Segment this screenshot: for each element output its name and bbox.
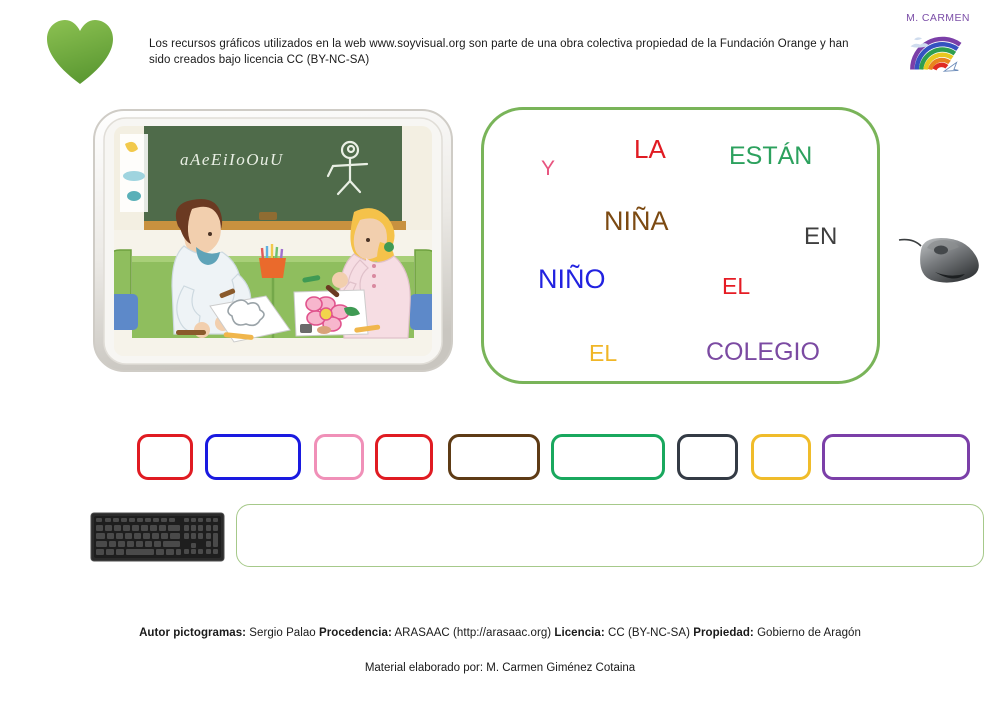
footer-author-line: Material elaborado por: M. Carmen Giméne…	[0, 662, 1000, 674]
word-chip-el-7[interactable]: EL	[589, 342, 617, 365]
svg-text:aAeEiIoOuU: aAeEiIoOuU	[180, 150, 284, 169]
answer-box-4[interactable]	[375, 434, 433, 480]
word-chip-colegio-8[interactable]: COLEGIO	[706, 340, 820, 365]
word-chip-nio-5[interactable]: NIÑO	[538, 266, 606, 293]
answer-box-2[interactable]	[205, 434, 301, 480]
answer-box-5[interactable]	[448, 434, 540, 480]
answer-box-3[interactable]	[314, 434, 364, 480]
computer-mouse-image	[897, 228, 987, 298]
answer-boxes-row	[0, 434, 1000, 486]
word-chip-y-0[interactable]: Y	[541, 158, 555, 179]
word-chip-el-6[interactable]: EL	[722, 275, 750, 298]
answer-box-7[interactable]	[677, 434, 738, 480]
green-heart-icon	[45, 18, 115, 86]
author-name: M. CARMEN	[884, 12, 992, 24]
footer-credits: Autor pictogramas: Sergio Palao Proceden…	[0, 627, 1000, 639]
classroom-children-drawing-photo: aAeEiIoOuU	[92, 108, 454, 373]
answer-box-9[interactable]	[822, 434, 970, 480]
footer-value-autor: Sergio Palao	[249, 627, 315, 639]
word-chip-en-4[interactable]: EN	[804, 225, 837, 249]
answer-box-8[interactable]	[751, 434, 811, 480]
author-badge: M. CARMEN	[884, 12, 992, 77]
keyboard-image	[90, 509, 225, 567]
footer-label-licencia: Licencia:	[554, 627, 604, 639]
footer-label-procedencia: Procedencia:	[319, 627, 392, 639]
footer-value-procedencia: ARASAAC (http://arasaac.org)	[394, 627, 551, 639]
sentence-answer-input[interactable]	[236, 504, 984, 567]
answer-box-1[interactable]	[137, 434, 193, 480]
answer-box-6[interactable]	[551, 434, 665, 480]
footer-value-propiedad: Gobierno de Aragón	[757, 627, 861, 639]
footer-value-licencia: CC (BY-NC-SA)	[608, 627, 690, 639]
word-bank-panel: YLAESTÁNNIÑAENNIÑOELELCOLEGIO	[481, 107, 880, 384]
footer-label-autor: Autor pictogramas:	[139, 627, 246, 639]
word-chip-la-1[interactable]: LA	[634, 136, 666, 162]
word-chip-estn-2[interactable]: ESTÁN	[729, 144, 812, 169]
word-chip-nia-3[interactable]: NIÑA	[604, 208, 669, 235]
rainbow-icon	[884, 28, 992, 77]
footer-label-propiedad: Propiedad:	[693, 627, 754, 639]
license-note: Los recursos gráficos utilizados en la w…	[149, 36, 849, 69]
